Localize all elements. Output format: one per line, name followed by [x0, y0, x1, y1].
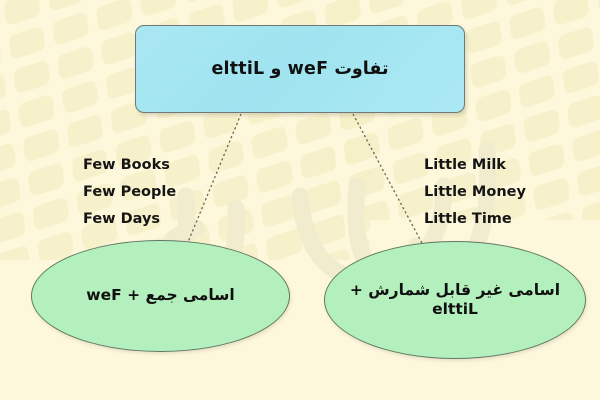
connector-left-line — [186, 114, 241, 247]
title-box: تفاوت Few و Little — [135, 25, 465, 113]
list-item: Little Money — [424, 179, 526, 206]
diagram-canvas: تفاوت Few و Little Few Books Few People … — [0, 0, 600, 400]
list-item: Little Time — [424, 206, 526, 233]
list-item: Few Books — [83, 152, 176, 179]
connector-right-line — [353, 114, 423, 245]
example-list-few: Few Books Few People Few Days — [83, 152, 176, 233]
ellipse-few-label: اسامی جمع + Few — [78, 286, 242, 305]
list-item: Few Days — [83, 206, 176, 233]
ellipse-little-label: اسامی غیر قابل شمارش + Little — [325, 281, 585, 320]
ellipse-little-rule: اسامی غیر قابل شمارش + Little — [324, 241, 586, 359]
list-item: Little Milk — [424, 152, 526, 179]
list-item: Few People — [83, 179, 176, 206]
title-text: تفاوت Few و Little — [211, 59, 388, 80]
example-list-little: Little Milk Little Money Little Time — [424, 152, 526, 233]
ellipse-few-rule: اسامی جمع + Few — [31, 240, 290, 352]
